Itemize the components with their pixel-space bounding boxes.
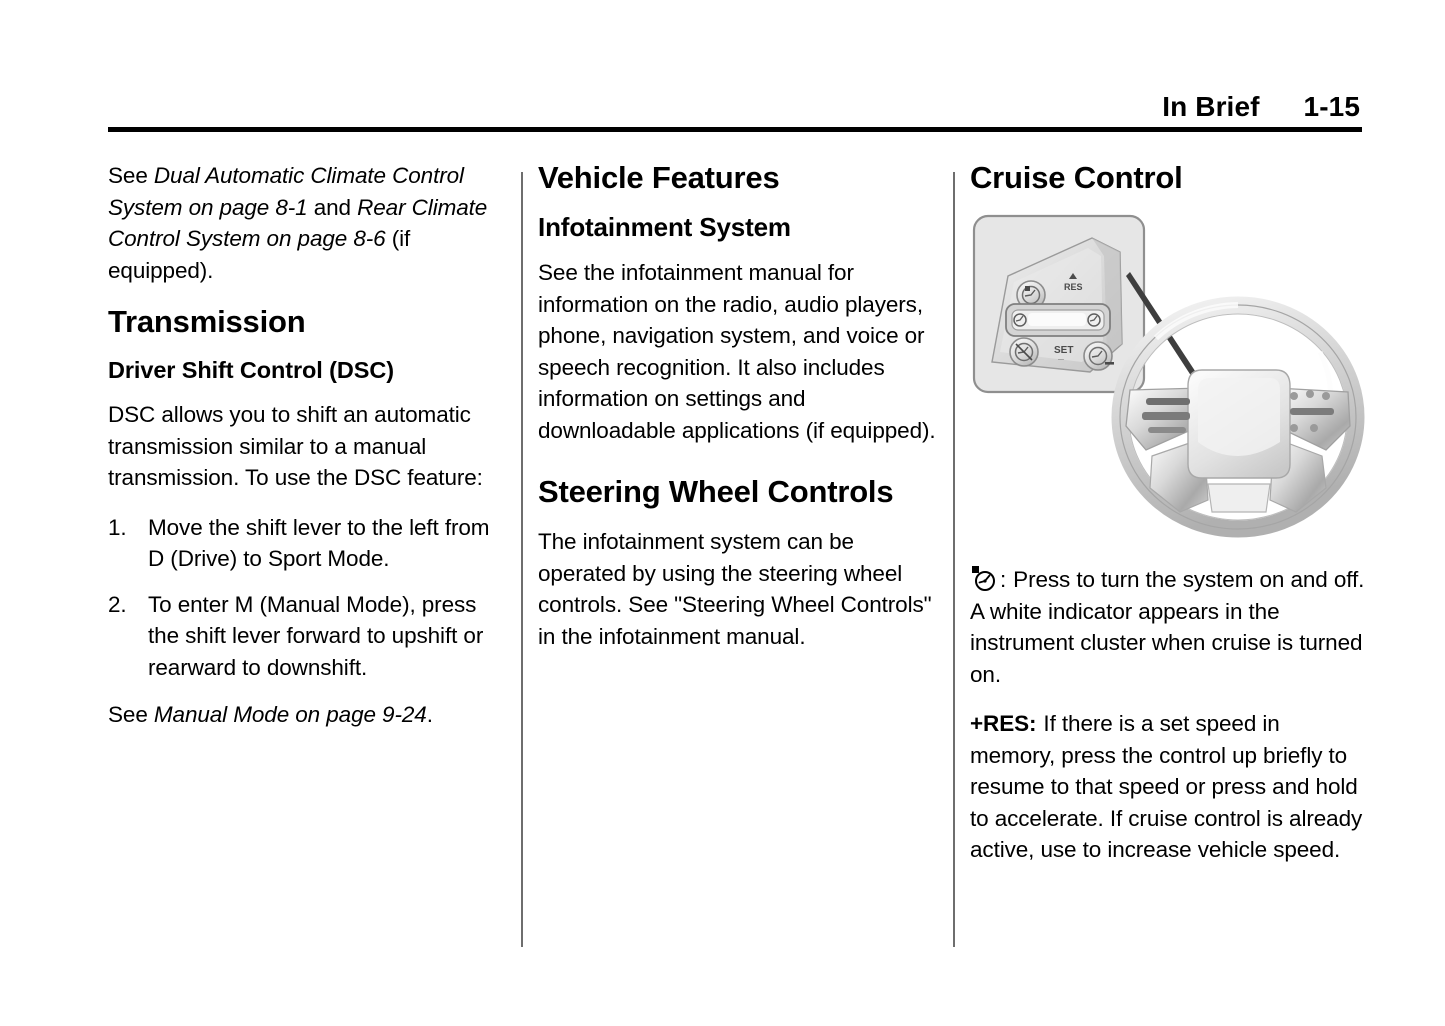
and-label: and — [308, 195, 358, 220]
infotainment-paragraph: See the infotainment manual for informat… — [538, 257, 936, 446]
see-label: See — [108, 702, 154, 727]
cruise-res-entry: +RES:If there is a set speed in memory, … — [970, 708, 1368, 866]
manual-mode-ref[interactable]: Manual Mode on page 9-24 — [154, 702, 427, 727]
column-divider-1 — [521, 172, 523, 947]
content-columns: See Dual Automatic Climate Control Syste… — [0, 160, 1445, 960]
column-left: See Dual Automatic Climate Control Syste… — [108, 160, 506, 749]
header-section-title: In Brief — [1162, 91, 1259, 123]
svg-text:SET: SET — [1054, 345, 1073, 356]
control-pad-callout: RES — [974, 216, 1144, 392]
dsc-intro-paragraph: DSC allows you to shift an automatic tra… — [108, 399, 506, 494]
cruise-onoff-separator: : — [1000, 567, 1006, 592]
climate-control-reference: See Dual Automatic Climate Control Syste… — [108, 160, 506, 286]
heading-driver-shift-control: Driver Shift Control (DSC) — [108, 356, 506, 385]
cruise-res-term: +RES — [970, 711, 1029, 736]
page-header: In Brief 1-15 — [108, 82, 1362, 132]
cruise-res-separator: : — [1029, 711, 1036, 736]
svg-text:—: — — [1058, 357, 1064, 363]
step-text: To enter M (Manual Mode), press the shif… — [148, 589, 506, 684]
cruise-onoff-text: Press to turn the system on and off. A w… — [970, 567, 1364, 687]
list-item: 1. Move the shift lever to the left from… — [108, 512, 506, 575]
header-title-row: In Brief 1-15 — [1162, 91, 1360, 123]
header-rule — [108, 127, 1362, 132]
step-number: 2. — [108, 589, 148, 684]
see-label: See — [108, 163, 154, 188]
page-number: 1-15 — [1304, 91, 1360, 123]
heading-vehicle-features: Vehicle Features — [538, 160, 936, 196]
steering-wheel — [1120, 305, 1356, 529]
cruise-gauge-icon — [970, 565, 1000, 592]
step-text: Move the shift lever to the left from D … — [148, 512, 506, 575]
cruise-control-steering-wheel-illustration: RES — [970, 212, 1368, 542]
period: . — [427, 702, 433, 727]
dsc-steps-list: 1. Move the shift lever to the left from… — [108, 512, 506, 684]
cruise-onoff-entry: :Press to turn the system on and off. A … — [970, 564, 1368, 690]
list-item: 2. To enter M (Manual Mode), press the s… — [108, 589, 506, 684]
rocker-switch — [1006, 304, 1110, 336]
left-spoke-controls — [1142, 398, 1190, 433]
steering-wheel-controls-paragraph: The infotainment system can be operated … — [538, 526, 936, 652]
column-middle: Vehicle Features Infotainment System See… — [538, 160, 936, 670]
heading-transmission: Transmission — [108, 304, 506, 340]
manual-mode-reference: See Manual Mode on page 9-24. — [108, 699, 506, 731]
column-divider-2 — [953, 172, 955, 947]
heading-cruise-control: Cruise Control — [970, 160, 1368, 196]
column-right: Cruise Control — [970, 160, 1368, 884]
heading-infotainment-system: Infotainment System — [538, 212, 936, 243]
step-number: 1. — [108, 512, 148, 575]
svg-text:RES: RES — [1064, 282, 1083, 292]
heading-steering-wheel-controls: Steering Wheel Controls — [538, 474, 936, 510]
